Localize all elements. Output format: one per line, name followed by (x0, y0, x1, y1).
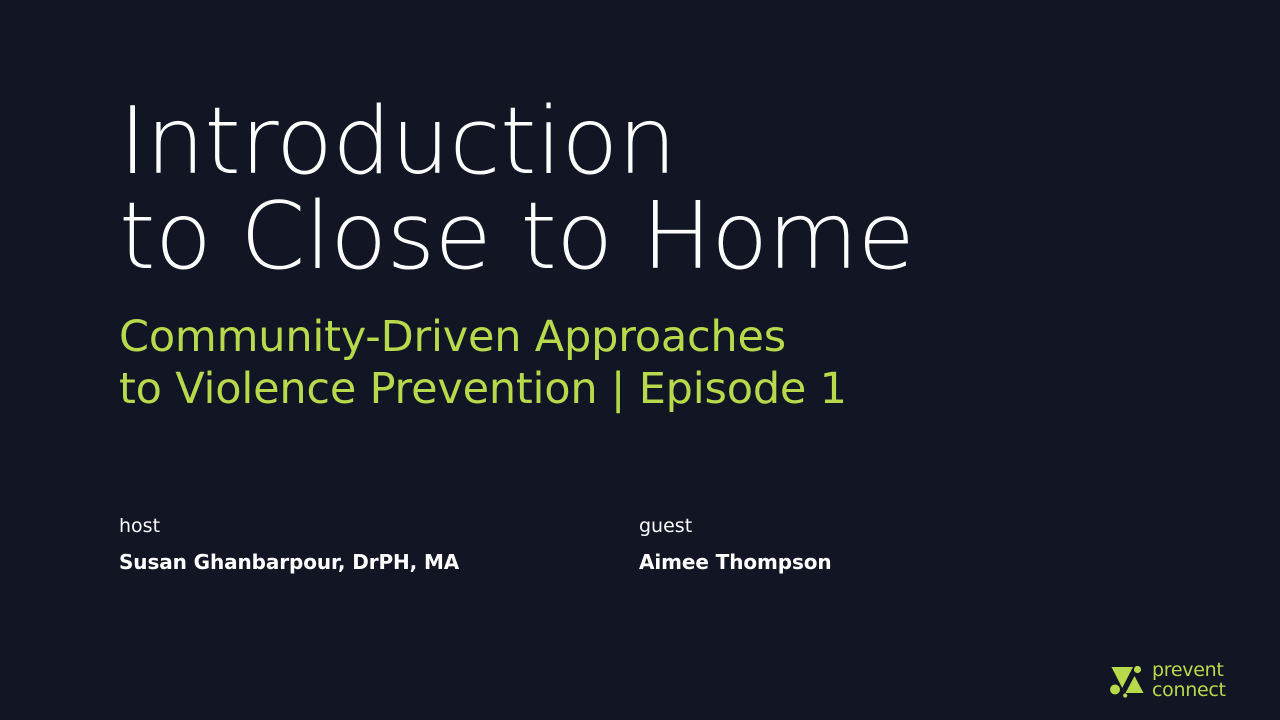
credit-host: host Susan Ghanbarpour, DrPH, MA (119, 514, 639, 574)
credit-person-name: Susan Ghanbarpour, DrPH, MA (119, 550, 639, 574)
subtitle-line-1: Community-Driven Approaches (119, 311, 1119, 363)
credits-section: host Susan Ghanbarpour, DrPH, MA guest A… (119, 514, 1159, 574)
logo-word-connect: connect (1152, 680, 1226, 700)
subtitle-line-2: to Violence Prevention | Episode 1 (119, 363, 1119, 415)
credit-person-name: Aimee Thompson (639, 550, 1159, 574)
logo-wordmark: prevent connect (1152, 660, 1226, 700)
title-line-1: Introduction (119, 94, 1119, 189)
title-line-2: to Close to Home (119, 189, 1119, 284)
preventconnect-triangle-mark (1110, 660, 1146, 700)
preventconnect-logo: prevent connect (1110, 660, 1226, 700)
credit-guest: guest Aimee Thompson (639, 514, 1159, 574)
credit-role-label: guest (639, 514, 1159, 538)
presentation-slide: Introduction to Close to Home Community-… (0, 0, 1280, 720)
page-subtitle: Community-Driven Approaches to Violence … (119, 311, 1119, 415)
logo-word-prevent: prevent (1152, 660, 1226, 680)
credit-role-label: host (119, 514, 639, 538)
page-title: Introduction to Close to Home (119, 94, 1119, 284)
